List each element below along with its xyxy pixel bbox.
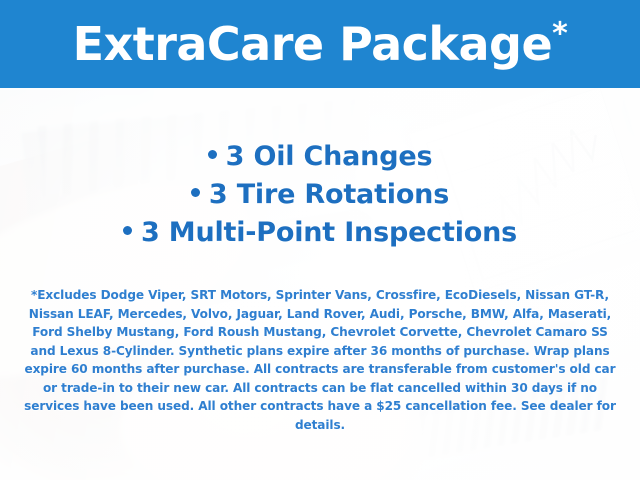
page-title: ExtraCare Package*: [73, 21, 568, 67]
extracare-package-ad: ExtraCare Package* 3 Oil Changes 3 Tire …: [0, 0, 640, 480]
bullet-dot-icon: [191, 188, 200, 197]
benefits-list: 3 Oil Changes 3 Tire Rotations 3 Multi-P…: [0, 138, 640, 252]
disclaimer-text: *Excludes Dodge Viper, SRT Motors, Sprin…: [18, 286, 622, 434]
bullet-dot-icon: [123, 226, 132, 235]
list-item: 3 Multi-Point Inspections: [0, 214, 640, 252]
list-item: 3 Tire Rotations: [0, 176, 640, 214]
page-title-text: ExtraCare Package: [73, 17, 553, 71]
benefit-label: 3 Oil Changes: [226, 141, 433, 172]
benefit-label: 3 Tire Rotations: [209, 179, 449, 210]
header-banner: ExtraCare Package*: [0, 0, 640, 88]
page-title-asterisk: *: [552, 17, 567, 52]
benefit-label: 3 Multi-Point Inspections: [141, 217, 517, 248]
disclaimer-block: *Excludes Dodge Viper, SRT Motors, Sprin…: [0, 286, 640, 434]
bullet-dot-icon: [208, 150, 217, 159]
list-item: 3 Oil Changes: [0, 138, 640, 176]
